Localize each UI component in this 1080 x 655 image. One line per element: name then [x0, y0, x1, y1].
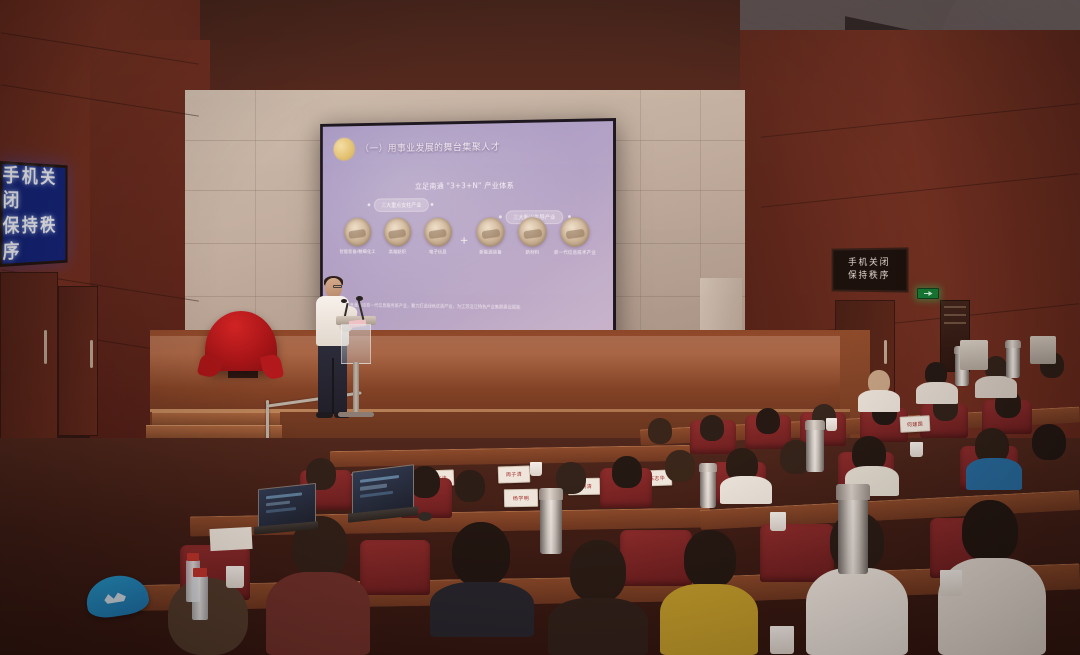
- industry-icon-2: [384, 218, 411, 247]
- equipment-box: [1030, 336, 1056, 364]
- slide-icon-item: 新材料: [517, 217, 549, 256]
- bottle-cap: [193, 568, 207, 577]
- paper-cup: [910, 442, 923, 457]
- nameplate: 何建国: [900, 415, 931, 433]
- computer-mouse[interactable]: [418, 512, 432, 521]
- pill-dot-left-b: [431, 203, 434, 206]
- audience-shoulders: [966, 458, 1022, 490]
- audience-head: [684, 530, 736, 588]
- slide-icon-item: 新能源装备: [475, 217, 506, 255]
- wall-sign-line-1: 手机关闭: [848, 257, 890, 270]
- audience-head: [700, 415, 724, 441]
- auditorium-scene: 手机关闭 保持秩序 手机关闭 保持秩序 （一）用事业发展的舞台集聚人才 立足南通…: [0, 0, 1080, 655]
- speaker-shoe-left: [316, 412, 333, 418]
- thermos-flask: [540, 498, 562, 554]
- nameplate: 杨学明: [504, 489, 538, 508]
- seat[interactable]: [620, 530, 692, 586]
- audience-head: [665, 450, 695, 482]
- door-handle-left-2[interactable]: [90, 340, 93, 368]
- industry-icon-4: [476, 217, 504, 246]
- paper-cup: [530, 462, 542, 476]
- audience-head: [612, 456, 642, 488]
- industry-icon-3: [424, 217, 452, 246]
- pill-dot-left-a: [368, 203, 371, 206]
- slide-icon-group-pillar: 智能装备/精细化工 高端纺织 电子信息: [343, 217, 454, 255]
- door-handle-right[interactable]: [884, 340, 887, 364]
- stage-step-1: [152, 412, 280, 425]
- industry-label-5: 新材料: [526, 250, 540, 256]
- paper-cup: [770, 512, 786, 531]
- projection-screen: （一）用事业发展的舞台集聚人才 立足南通 "3+3+N" 产业体系 三大重点支柱…: [323, 121, 613, 345]
- bottle-cap: [187, 553, 199, 561]
- slide-icon-item: 新一代信息技术产业: [559, 217, 591, 256]
- paper-cup: [770, 626, 794, 654]
- led-sign-line-2: 保持秩序: [3, 214, 66, 265]
- podium-base: [338, 412, 374, 417]
- thermos-cap: [699, 463, 717, 472]
- nameplate-text: 周子清: [506, 471, 522, 479]
- thermos-flask: [700, 470, 716, 508]
- slide-icon-row: 智能装备/精细化工 高端纺织 电子信息 + 新能源装备: [323, 217, 613, 256]
- industry-icon-6: [560, 217, 589, 247]
- thermos-cap: [1005, 340, 1021, 348]
- slide-icon-item: 电子信息: [423, 217, 454, 255]
- audience-head-foreground: [168, 578, 248, 655]
- slide-icon-item: 智能装备/精细化工: [343, 218, 373, 255]
- paper-documents: [209, 527, 252, 551]
- industry-label-2: 高端纺织: [389, 249, 407, 255]
- audience-head: [410, 466, 440, 498]
- stone-vseam-3: [255, 90, 256, 340]
- stage-step-2: [146, 425, 282, 438]
- nameplate: 周子清: [498, 465, 531, 483]
- industry-label-6: 新一代信息技术产业: [554, 250, 596, 256]
- audience-head: [756, 408, 780, 434]
- speaker-leg-divider: [332, 358, 334, 414]
- audience-shoulders: [266, 572, 370, 655]
- slide-pill-left: 三大重点支柱产业: [374, 198, 429, 212]
- slide-subtitle: 立足南通 "3+3+N" 产业体系: [323, 179, 613, 192]
- thermos-cap: [805, 420, 825, 430]
- equipment-box: [960, 340, 988, 370]
- thermos-flask: [1006, 346, 1020, 378]
- microphone-head-1-icon: [356, 296, 363, 301]
- audience-head: [1032, 424, 1066, 460]
- slide-icon-item: 高端纺织: [382, 218, 412, 256]
- audience-shoulders: [720, 476, 772, 504]
- audience-head: [455, 470, 485, 502]
- paper-cup: [226, 566, 244, 588]
- audience-shoulders: [858, 390, 900, 412]
- paper-cup: [826, 418, 837, 431]
- speaker-head: [325, 278, 342, 298]
- thermos-cap: [539, 488, 563, 500]
- exit-sign-icon: [917, 288, 939, 299]
- led-sign-line-1: 手机关闭: [3, 163, 66, 214]
- audience-shoulders: [430, 582, 534, 637]
- industry-label-4: 新能源装备: [479, 250, 502, 256]
- vent-slat-2: [944, 314, 966, 316]
- microphone-head-2-icon: [341, 299, 347, 303]
- audience-head: [648, 418, 672, 444]
- audience-head: [570, 540, 626, 602]
- audience-head: [962, 500, 1018, 562]
- projection-screen-frame: （一）用事业发展的舞台集聚人才 立足南通 "3+3+N" 产业体系 三大重点支柱…: [320, 118, 616, 348]
- industry-icon-1: [344, 218, 371, 247]
- thermos-cap: [836, 484, 870, 500]
- thermos-flask: [838, 498, 868, 574]
- paper-cup: [940, 570, 962, 596]
- audience-shoulders: [975, 376, 1017, 398]
- door-handle-left-1[interactable]: [44, 330, 47, 364]
- audience-shoulders: [806, 568, 908, 655]
- notice-sign-right: 手机关闭 保持秩序: [832, 247, 909, 292]
- nameplate-text: 何建国: [907, 420, 924, 428]
- audience-shoulders: [548, 598, 648, 655]
- industry-icon-5: [518, 217, 547, 247]
- podium-stem: [353, 362, 359, 414]
- podium-glass-panel: [341, 324, 371, 364]
- thermos-flask: [806, 428, 824, 472]
- nameplate-text: 杨学明: [513, 494, 529, 501]
- industry-label-3: 电子信息: [429, 249, 447, 255]
- wall-sign-line-2: 保持秩序: [848, 270, 890, 283]
- slide-icon-group-emerging: 新能源装备 新材料 新一代信息技术产业: [475, 217, 591, 256]
- led-notice-sign-left: 手机关闭 保持秩序: [0, 161, 68, 267]
- audience-shoulders: [916, 382, 958, 404]
- seat[interactable]: [360, 540, 430, 595]
- door-left-1[interactable]: [0, 272, 58, 442]
- audience-shoulders: [660, 584, 758, 655]
- vent-slat-3: [944, 322, 966, 324]
- slide-title: （一）用事业发展的舞台集聚人才: [360, 139, 500, 155]
- industry-label-1: 智能装备/精细化工: [340, 249, 376, 255]
- water-bottle: [192, 576, 208, 620]
- audience-head: [452, 522, 510, 586]
- vent-slat-1: [944, 306, 966, 308]
- speaker-glasses-icon: [333, 285, 342, 288]
- slide-plus-separator: +: [460, 226, 469, 246]
